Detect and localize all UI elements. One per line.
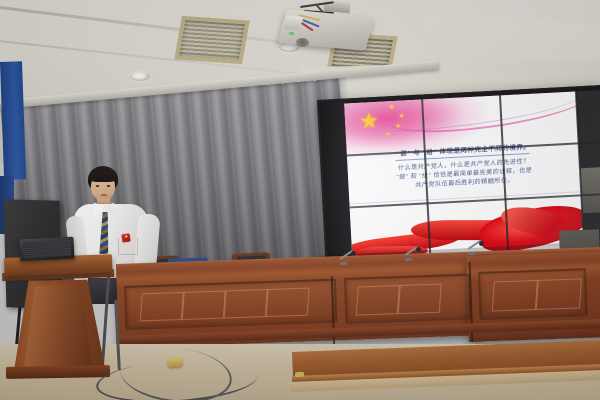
party-badge-star-icon: ★ <box>124 235 128 240</box>
flag-star-large: ★ <box>359 110 380 133</box>
video-wall-screen: ★ ★ ★ ★ ★ "做" 与 "给" 体现是两种完全不同的境界。 什么是共产党… <box>344 91 584 260</box>
power-plug <box>168 357 183 367</box>
table-panel-inset <box>124 279 337 330</box>
air-vent-left <box>174 16 250 64</box>
flag-star-small: ★ <box>388 104 395 111</box>
table-microphone-3-base <box>468 252 475 255</box>
table-microphone-1-head <box>351 251 356 256</box>
blue-wall-strip <box>0 61 26 180</box>
presenter-eye-right <box>107 185 110 187</box>
podium-wood-grain <box>24 286 92 366</box>
projector-status-led <box>289 32 294 35</box>
flag-star-small: ★ <box>399 113 405 119</box>
table-microphone-2-base <box>405 258 412 261</box>
table-panel-inset <box>344 274 472 324</box>
video-wall-off-panel-highlight <box>580 167 600 213</box>
flag-star-small: ★ <box>386 132 391 137</box>
downlight-1 <box>130 72 150 81</box>
table-microphone-1-base <box>340 262 347 265</box>
table-microphone-2-head <box>416 247 421 252</box>
presenter-fringe <box>89 171 117 182</box>
table-microphone-3-head <box>479 241 484 246</box>
presenter-eye-left <box>96 185 99 187</box>
flag-star-small: ★ <box>395 124 401 130</box>
lcd-video-wall[interactable]: ★ ★ ★ ★ ★ "做" 与 "给" 体现是两种完全不同的境界。 什么是共产党… <box>317 85 600 267</box>
presenter-mouth <box>101 194 107 196</box>
conference-room-photo: ★ ★ ★ ★ ★ "做" 与 "给" 体现是两种完全不同的境界。 什么是共产党… <box>0 0 600 400</box>
podium-laptop-screen <box>23 240 72 258</box>
podium-foot <box>6 365 110 379</box>
table-panel-inset <box>478 268 588 320</box>
power-plug-secondary <box>295 372 304 378</box>
